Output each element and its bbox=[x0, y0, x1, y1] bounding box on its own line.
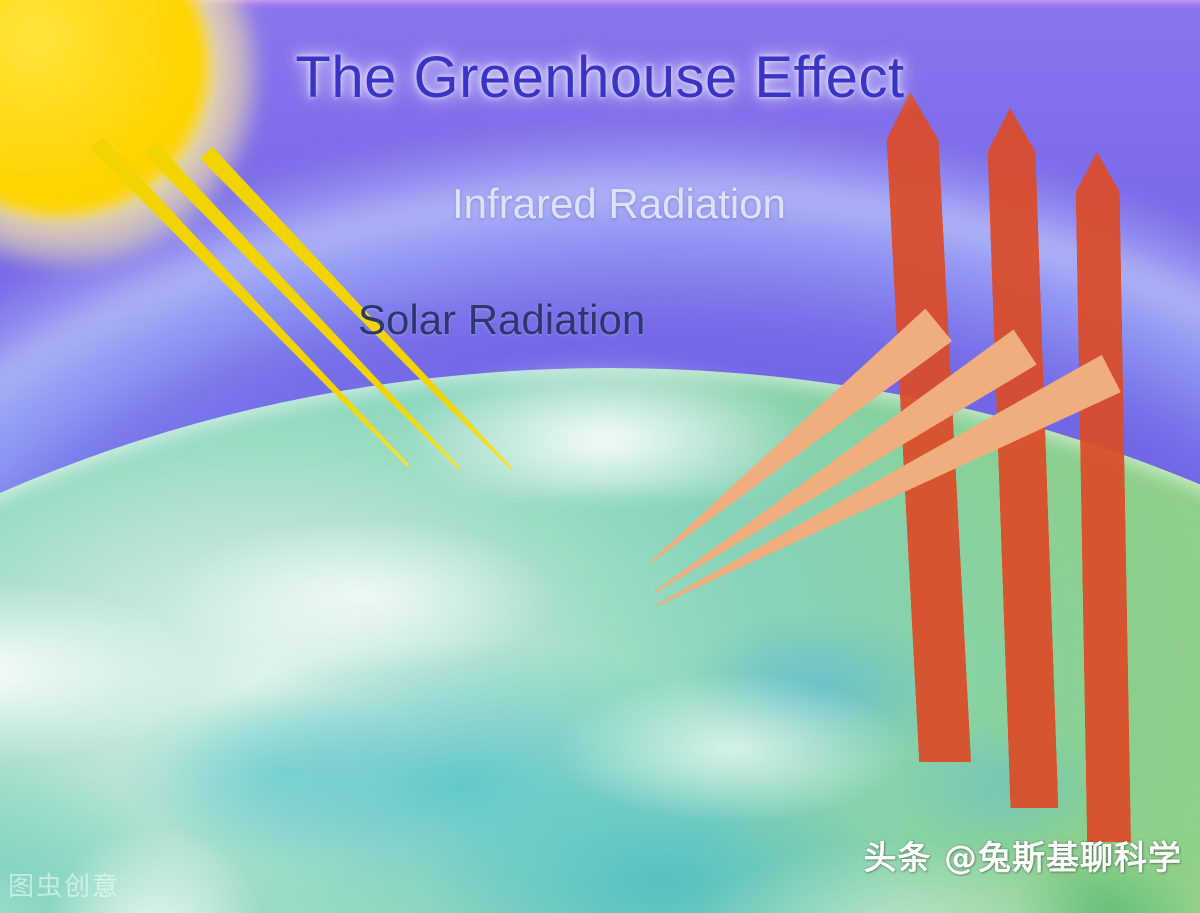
watermark-bottom-left: 图虫创意 bbox=[8, 866, 120, 903]
infrared-beam-layer bbox=[0, 0, 1200, 913]
infrared-radiation-label: Infrared Radiation bbox=[452, 180, 786, 228]
page-title: The Greenhouse Effect bbox=[0, 44, 1200, 111]
watermark-bottom-right: 头条 @兔斯基聊科学 bbox=[864, 831, 1183, 879]
solar-radiation-label: Solar Radiation bbox=[358, 296, 645, 344]
infrared-beam-3 bbox=[647, 355, 1120, 624]
infrared-beam-2 bbox=[643, 329, 1036, 609]
greenhouse-effect-illustration: The Greenhouse Effect Infrared Radiation… bbox=[0, 0, 1200, 913]
